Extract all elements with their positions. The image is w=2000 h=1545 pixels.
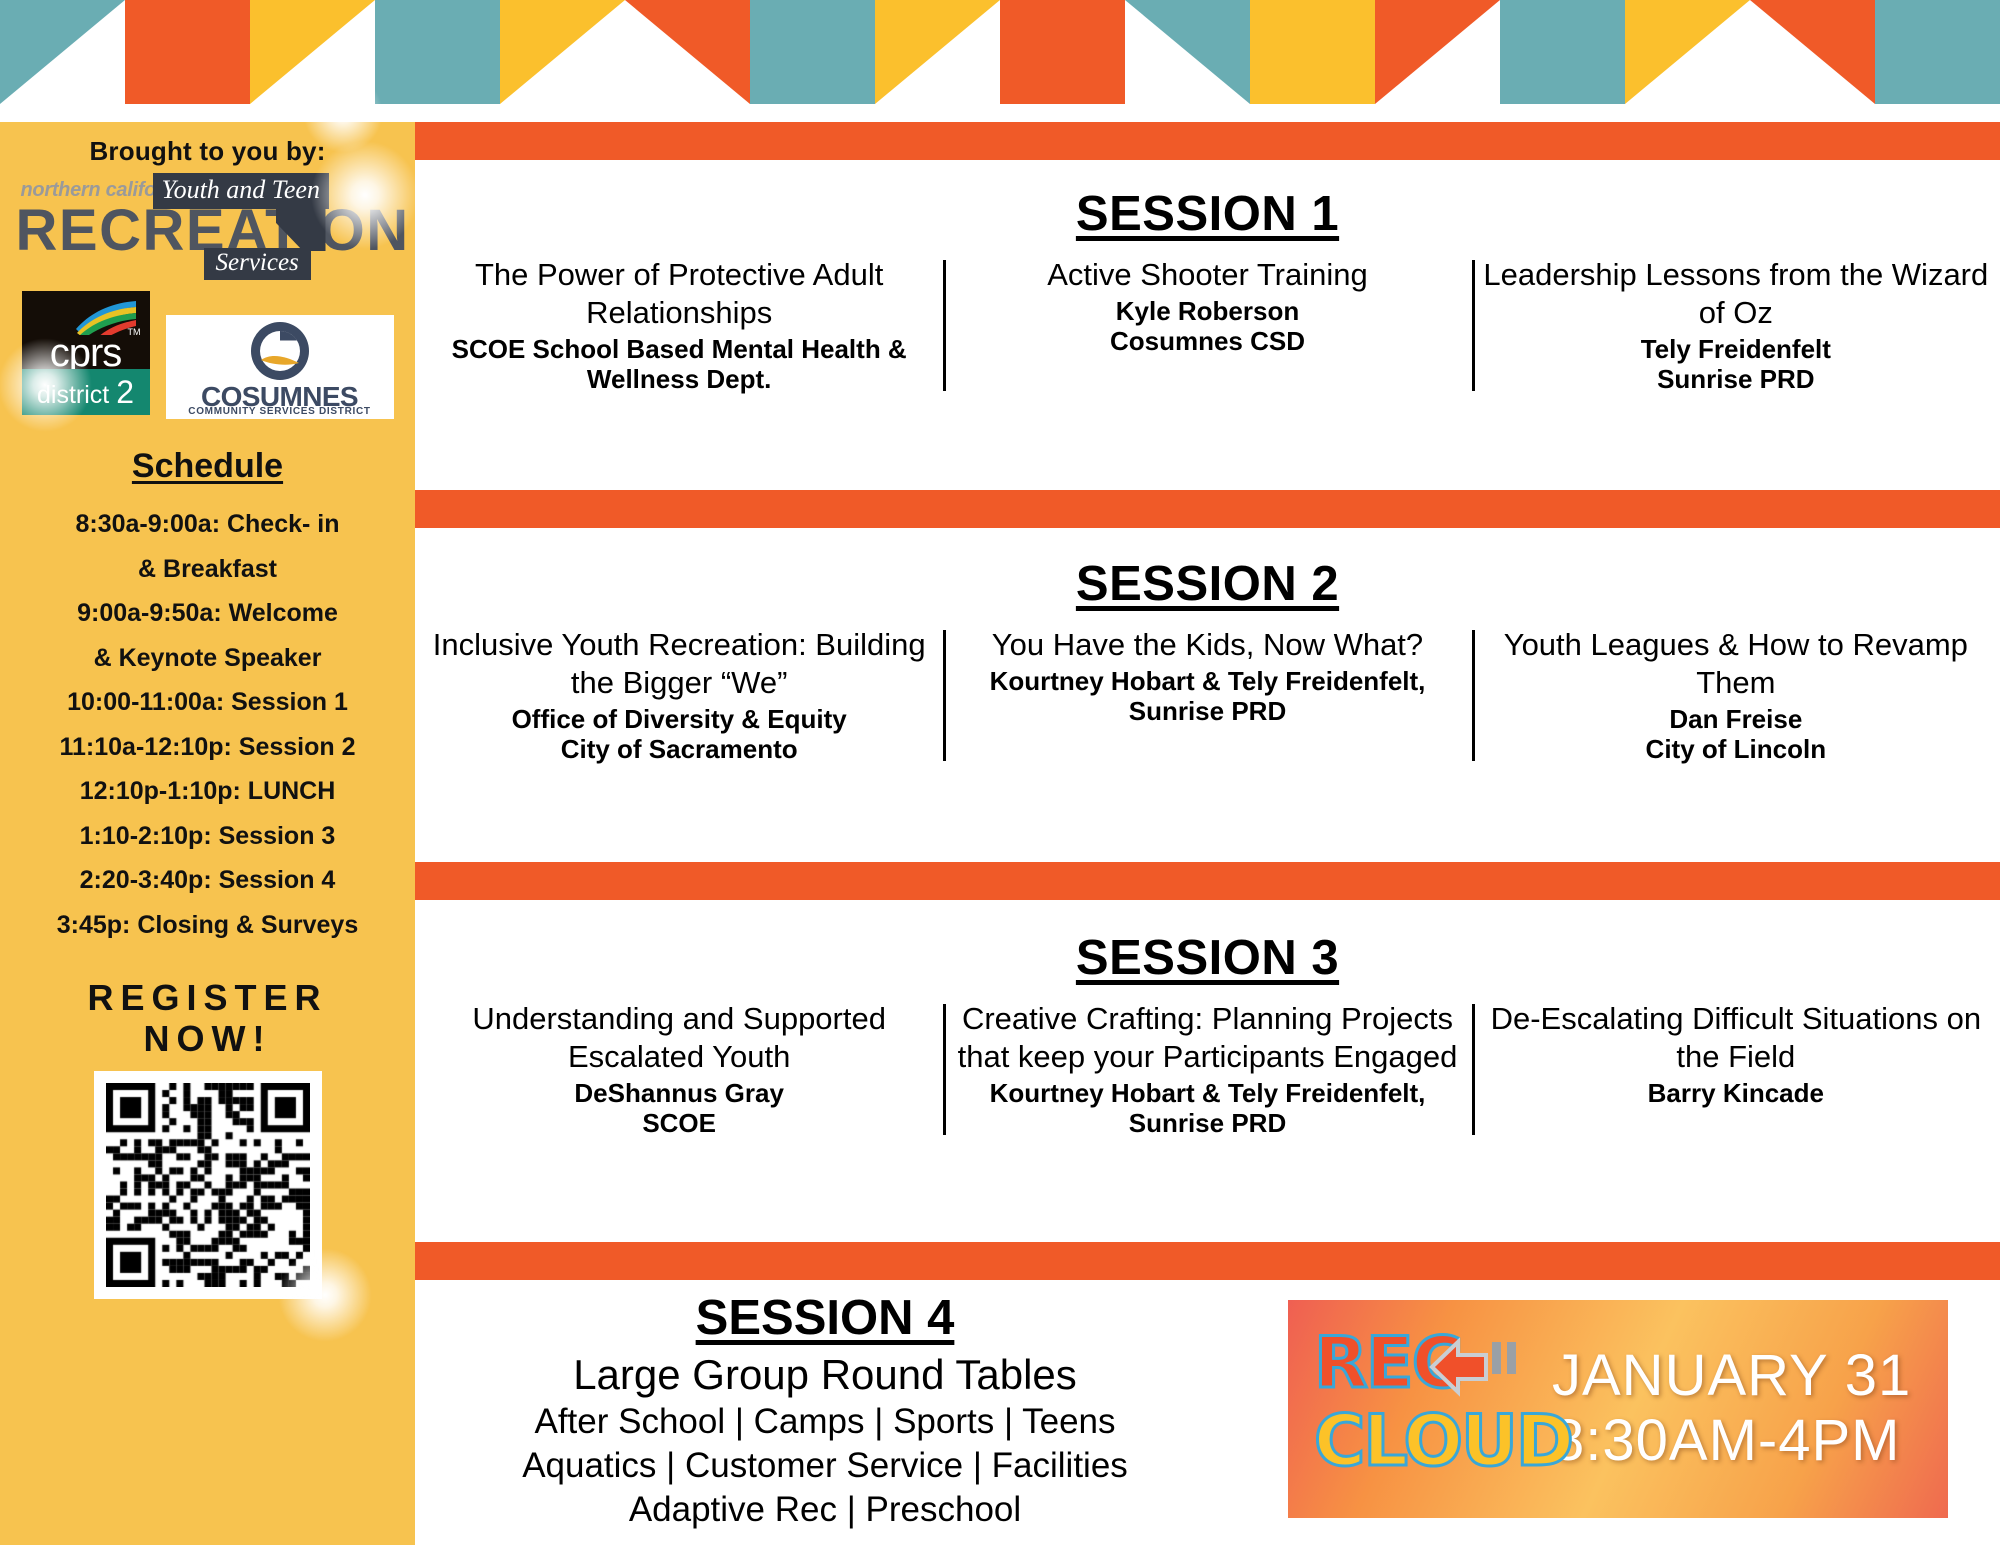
schedule-item-5: 11:10a-12:10p: Session 2 bbox=[0, 725, 415, 770]
session-4-topic-line-1: Aquatics | Customer Service | Facilities bbox=[415, 1444, 1235, 1488]
session-talk-title: Leadership Lessons from the Wizard of Oz bbox=[1482, 256, 1990, 332]
event-date: JANUARY 31 bbox=[1552, 1344, 1911, 1409]
session-talk-title: The Power of Protective Adult Relationsh… bbox=[425, 256, 933, 332]
brought-to-you-by-label: Brought to you by: bbox=[0, 136, 415, 167]
registration-qr-code[interactable] bbox=[106, 1083, 310, 1287]
sidebar: Brought to you by: northern california Y… bbox=[0, 122, 415, 1545]
schedule-heading: Schedule bbox=[0, 447, 415, 486]
banner-tile-13 bbox=[1625, 0, 1750, 104]
pause-bars-icon bbox=[1492, 1342, 1516, 1374]
rec-cloud-date-banner: REC CLOUD JANUARY 31 8:30AM-4PM bbox=[1288, 1300, 1948, 1518]
cprs-district-banner: district 2 bbox=[22, 369, 150, 415]
rec-logo-word-cloud: CLOUD bbox=[1314, 1406, 1572, 1476]
event-time: 8:30AM-4PM bbox=[1552, 1409, 1911, 1474]
presenter-line: Dan Freise bbox=[1482, 704, 1990, 735]
presenter-line: Sunrise PRD bbox=[1482, 364, 1990, 395]
banner-tile-10 bbox=[1250, 0, 1375, 104]
cprs-district2-logo: cprs TM district 2 bbox=[22, 291, 150, 415]
register-line-1: REGISTER bbox=[0, 977, 415, 1018]
session-talk-presenter: Kourtney Hobart & Tely Freidenfelt, Sunr… bbox=[953, 666, 1461, 727]
banner-tile-4 bbox=[500, 0, 625, 104]
session-block-1: SESSION 1 The Power of Protective Adult … bbox=[415, 186, 2000, 395]
schedule-item-1: & Breakfast bbox=[0, 547, 415, 592]
session-block-2: SESSION 2 Inclusive Youth Recreation: Bu… bbox=[415, 556, 2000, 765]
register-now-heading: REGISTER NOW! bbox=[0, 977, 415, 1059]
cosumnes-subtitle-text: COMMUNITY SERVICES DISTRICT bbox=[166, 406, 394, 417]
session-talk-title: Creative Crafting: Planning Projects tha… bbox=[953, 1000, 1461, 1076]
session-4-subtitle: Large Group Round Tables bbox=[415, 1350, 1235, 1400]
session-talk-presenter: SCOE School Based Mental Health & Wellne… bbox=[425, 334, 933, 395]
schedule-item-8: 2:20-3:40p: Session 4 bbox=[0, 858, 415, 903]
session-talk-title: Understanding and Supported Escalated Yo… bbox=[425, 1000, 933, 1076]
event-date-time: JANUARY 31 8:30AM-4PM bbox=[1552, 1344, 1911, 1474]
cosumnes-c-mark-icon bbox=[249, 320, 311, 382]
banner-tile-12 bbox=[1500, 0, 1625, 104]
session-2-column-2: You Have the Kids, Now What?Kourtney Hob… bbox=[943, 626, 1471, 765]
schedule-item-2: 9:00a-9:50a: Welcome bbox=[0, 591, 415, 636]
session-4-topic-line-0: After School | Camps | Sports | Teens bbox=[415, 1400, 1235, 1444]
left-arrow-icon bbox=[1428, 1336, 1490, 1398]
orange-divider-bar-4 bbox=[415, 1242, 2000, 1280]
schedule-item-0: 8:30a-9:00a: Check- in bbox=[0, 502, 415, 547]
presenter-line: Kourtney Hobart & Tely Freidenfelt, Sunr… bbox=[953, 1078, 1461, 1139]
banner-tile-11 bbox=[1375, 0, 1500, 104]
presenter-line: City of Sacramento bbox=[425, 734, 933, 765]
session-talk-title: You Have the Kids, Now What? bbox=[953, 626, 1461, 664]
session-talk-presenter: DeShannus GraySCOE bbox=[425, 1078, 933, 1139]
banner-tile-2 bbox=[250, 0, 375, 104]
session-2-column-1: Inclusive Youth Recreation: Building the… bbox=[415, 626, 943, 765]
session-3-column-3: De-Escalating Difficult Situations on th… bbox=[1472, 1000, 2000, 1139]
session-talk-title: De-Escalating Difficult Situations on th… bbox=[1482, 1000, 1990, 1076]
session-block-4: SESSION 4 Large Group Round Tables After… bbox=[415, 1290, 1235, 1532]
banner-tile-7 bbox=[875, 0, 1000, 104]
session-talk-presenter: Barry Kincade bbox=[1482, 1078, 1990, 1109]
partner-logos-row: cprs TM district 2 COSUMNES COMMUNITY SE… bbox=[8, 291, 408, 419]
banner-tile-5 bbox=[625, 0, 750, 104]
session-talk-title: Youth Leagues & How to Revamp Them bbox=[1482, 626, 1990, 702]
banner-tile-3 bbox=[375, 0, 500, 104]
cprs-district-number: 2 bbox=[116, 374, 134, 410]
session-1-column-2: Active Shooter TrainingKyle RobersonCosu… bbox=[943, 256, 1471, 395]
session-1-title: SESSION 1 bbox=[415, 186, 2000, 242]
schedule-list: 8:30a-9:00a: Check- in& Breakfast9:00a-9… bbox=[0, 502, 415, 947]
session-1-column-1: The Power of Protective Adult Relationsh… bbox=[415, 256, 943, 395]
orange-divider-bar-1 bbox=[415, 122, 2000, 160]
session-talk-presenter: Kourtney Hobart & Tely Freidenfelt, Sunr… bbox=[953, 1078, 1461, 1139]
schedule-item-6: 12:10p-1:10p: LUNCH bbox=[0, 769, 415, 814]
presenter-line: City of Lincoln bbox=[1482, 734, 1990, 765]
session-2-columns: Inclusive Youth Recreation: Building the… bbox=[415, 626, 2000, 765]
banner-tile-15 bbox=[1875, 0, 2000, 104]
orange-divider-bar-2 bbox=[415, 490, 2000, 528]
banner-tile-8 bbox=[1000, 0, 1125, 104]
norcal-recreation-services-logo: northern california Youth and Teen RECRE… bbox=[8, 175, 408, 287]
session-3-column-2: Creative Crafting: Planning Projects tha… bbox=[943, 1000, 1471, 1139]
banner-tile-14 bbox=[1750, 0, 1875, 104]
presenter-line: Barry Kincade bbox=[1482, 1078, 1990, 1109]
session-talk-title: Inclusive Youth Recreation: Building the… bbox=[425, 626, 933, 702]
schedule-item-4: 10:00-11:00a: Session 1 bbox=[0, 680, 415, 725]
schedule-item-3: & Keynote Speaker bbox=[0, 636, 415, 681]
schedule-item-9: 3:45p: Closing & Surveys bbox=[0, 903, 415, 948]
presenter-line: Office of Diversity & Equity bbox=[425, 704, 933, 735]
session-3-title: SESSION 3 bbox=[415, 930, 2000, 986]
schedule-item-7: 1:10-2:10p: Session 3 bbox=[0, 814, 415, 859]
session-block-3: SESSION 3 Understanding and Supported Es… bbox=[415, 930, 2000, 1139]
orange-divider-bar-3 bbox=[415, 862, 2000, 900]
presenter-line: Kyle Roberson bbox=[953, 296, 1461, 327]
top-decorative-banner bbox=[0, 0, 2000, 104]
session-1-column-3: Leadership Lessons from the Wizard of Oz… bbox=[1472, 256, 2000, 395]
event-flyer: Brought to you by: northern california Y… bbox=[0, 0, 2000, 1545]
presenter-line: SCOE School Based Mental Health & Wellne… bbox=[425, 334, 933, 395]
banner-tile-9 bbox=[1125, 0, 1250, 104]
logo-services-text: Services bbox=[204, 248, 311, 280]
session-talk-title: Active Shooter Training bbox=[953, 256, 1461, 294]
presenter-line: DeShannus Gray bbox=[425, 1078, 933, 1109]
banner-tile-1 bbox=[125, 0, 250, 104]
banner-tile-0 bbox=[0, 0, 125, 104]
session-4-topic-line-2: Adaptive Rec | Preschool bbox=[415, 1488, 1235, 1532]
register-line-2: NOW! bbox=[0, 1018, 415, 1059]
presenter-line: SCOE bbox=[425, 1108, 933, 1139]
presenter-line: Kourtney Hobart & Tely Freidenfelt, Sunr… bbox=[953, 666, 1461, 727]
cosumnes-csd-logo: COSUMNES COMMUNITY SERVICES DISTRICT bbox=[166, 315, 394, 419]
session-2-title: SESSION 2 bbox=[415, 556, 2000, 612]
session-4-title: SESSION 4 bbox=[415, 1290, 1235, 1346]
session-talk-presenter: Kyle RobersonCosumnes CSD bbox=[953, 296, 1461, 357]
session-4-topics: After School | Camps | Sports | TeensAqu… bbox=[415, 1400, 1235, 1531]
session-1-columns: The Power of Protective Adult Relationsh… bbox=[415, 256, 2000, 395]
banner-tile-6 bbox=[750, 0, 875, 104]
cprs-district-label: district bbox=[37, 381, 109, 409]
session-3-columns: Understanding and Supported Escalated Yo… bbox=[415, 1000, 2000, 1139]
rec-cloud-logo: REC CLOUD bbox=[1310, 1314, 1542, 1504]
session-3-column-1: Understanding and Supported Escalated Yo… bbox=[415, 1000, 943, 1139]
session-talk-presenter: Tely FreidenfeltSunrise PRD bbox=[1482, 334, 1990, 395]
qr-code-container[interactable] bbox=[94, 1071, 322, 1299]
session-2-column-3: Youth Leagues & How to Revamp ThemDan Fr… bbox=[1472, 626, 2000, 765]
cprs-tm-mark: TM bbox=[128, 327, 141, 337]
presenter-line: Cosumnes CSD bbox=[953, 326, 1461, 357]
session-talk-presenter: Dan FreiseCity of Lincoln bbox=[1482, 704, 1990, 765]
session-talk-presenter: Office of Diversity & EquityCity of Sacr… bbox=[425, 704, 933, 765]
presenter-line: Tely Freidenfelt bbox=[1482, 334, 1990, 365]
